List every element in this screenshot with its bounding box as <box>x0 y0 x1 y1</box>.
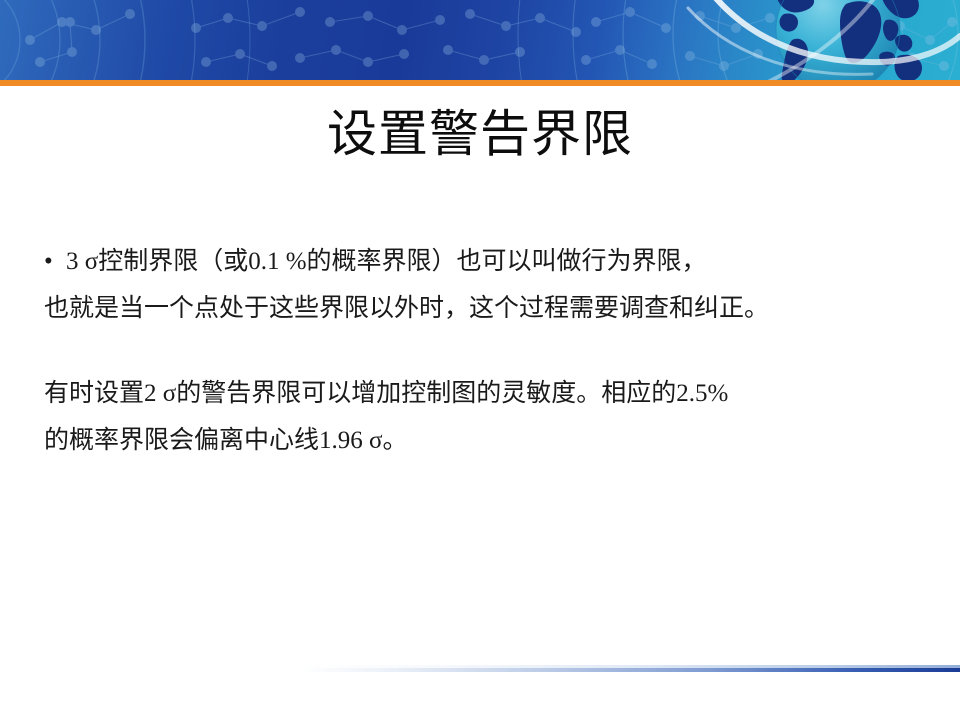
paragraph-1-line-2: 也就是当一个点处于这些界限以外时，这个过程需要调查和纠正。 <box>44 295 769 322</box>
page-title: 设置警告界限 <box>0 104 960 164</box>
header-banner <box>0 0 960 80</box>
header-accent-bar <box>0 80 960 86</box>
arc-rings-decoration <box>0 0 250 80</box>
slide-body: •3 σ控制界限（或0.1 %的概率界限）也可以叫做行为界限， 也就是当一个点处… <box>44 238 934 464</box>
footer-rule <box>300 668 960 672</box>
paragraph-1-line-2-row: 也就是当一个点处于这些界限以外时，这个过程需要调查和纠正。 <box>44 285 934 332</box>
paragraph-2-line-1: 有时设置2 σ的警告界限可以增加控制图的灵敏度。相应的2.5% <box>44 380 728 407</box>
bullet-list-item: •3 σ控制界限（或0.1 %的概率界限）也可以叫做行为界限， <box>44 238 934 285</box>
paragraph-2-line-1-row: 有时设置2 σ的警告界限可以增加控制图的灵敏度。相应的2.5% <box>44 370 934 417</box>
paragraph-1-line-1: 3 σ控制界限（或0.1 %的概率界限）也可以叫做行为界限， <box>66 248 707 275</box>
slide-canvas: 设置警告界限 •3 σ控制界限（或0.1 %的概率界限）也可以叫做行为界限， 也… <box>0 0 960 720</box>
bullet-marker-icon: • <box>44 238 66 285</box>
paragraph-2-line-2: 的概率界限会偏离中心线1.96 σ。 <box>44 427 407 454</box>
banner-decoration-svg <box>0 0 960 80</box>
paragraph-spacer <box>44 332 934 370</box>
paragraph-2-line-2-row: 的概率界限会偏离中心线1.96 σ。 <box>44 417 934 464</box>
